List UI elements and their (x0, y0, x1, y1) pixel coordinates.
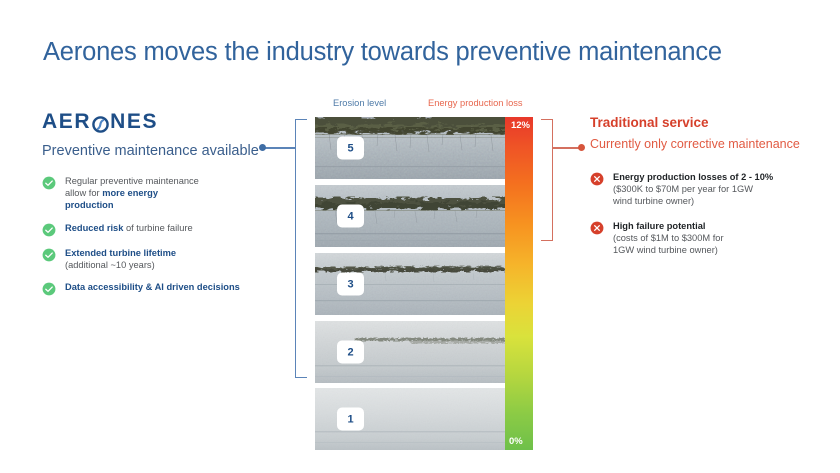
benefit-item: Reduced risk of turbine failure (42, 222, 267, 237)
risk-sub2: wind turbine owner) (613, 196, 694, 206)
erosion-level-badge: 5 (337, 137, 364, 160)
check-circle-icon (42, 282, 56, 296)
benefits-list: Regular preventive maintenanceallow for … (42, 175, 267, 296)
scale-max-label: 12% (511, 120, 530, 131)
benefit-plain: of turbine failure (123, 223, 192, 233)
risk-sub1: ($300K to $70M per year for 1GW (613, 184, 753, 194)
right-panel: Traditional service Currently only corre… (590, 115, 820, 268)
right-title: Traditional service (590, 115, 820, 130)
erosion-level-badge: 3 (337, 273, 364, 296)
risk-sub1: (costs of $1M to $300M for (613, 233, 724, 243)
benefit-line2-bold: more energy (102, 188, 158, 198)
logo-text-after: NES (110, 110, 158, 134)
left-bracket-stem (263, 147, 296, 149)
left-bracket (295, 119, 307, 378)
risk-headline: Energy production losses of 2 - 10% (613, 172, 773, 182)
right-bracket (541, 119, 553, 241)
aerones-logo: AER NES (42, 110, 267, 134)
erosion-level-badge: 4 (337, 205, 364, 228)
page-title: Aerones moves the industry towards preve… (43, 38, 722, 67)
risk-item: Energy production losses of 2 - 10%($300… (590, 171, 820, 208)
logo-text-before: AER (42, 110, 91, 134)
benefit-line1: Regular preventive maintenance (65, 176, 199, 186)
risk-text: High failure potential(costs of $1M to $… (613, 220, 724, 257)
check-circle-icon (42, 176, 56, 190)
benefit-text: Regular preventive maintenanceallow for … (65, 175, 199, 212)
check-circle-icon (42, 248, 56, 262)
benefit-bold: Reduced risk (65, 223, 123, 233)
left-subtitle: Preventive maintenance available (42, 143, 267, 159)
erosion-level-badge: 1 (337, 408, 364, 431)
x-circle-icon (590, 172, 604, 186)
aerones-o-mark-icon (92, 115, 109, 132)
right-bracket-dot-icon (578, 144, 585, 151)
check-circle-icon (42, 223, 56, 237)
erosion-level-badge: 2 (337, 341, 364, 364)
benefit-bold: Extended turbine lifetime (65, 248, 176, 258)
left-panel: AER NES Preventive maintenance available… (42, 110, 267, 306)
benefit-item: Regular preventive maintenanceallow for … (42, 175, 267, 212)
erosion-strips: 5 (315, 117, 505, 450)
risk-item: High failure potential(costs of $1M to $… (590, 220, 820, 257)
benefit-plain: (additional ~10 years) (65, 260, 155, 270)
benefit-line2-plain: allow for (65, 188, 102, 198)
energy-loss-gradient-scale: 12% 0% (505, 117, 533, 450)
energy-production-loss-header: Energy production loss (428, 98, 523, 108)
benefit-text: Reduced risk of turbine failure (65, 222, 193, 234)
risk-headline: High failure potential (613, 221, 705, 231)
benefit-bold: Data accessibility & AI driven decisions (65, 282, 240, 292)
erosion-strip-3[interactable]: 3 (315, 253, 505, 315)
erosion-level-header: Erosion level (333, 98, 386, 108)
risk-text: Energy production losses of 2 - 10%($300… (613, 171, 773, 208)
benefit-item: Extended turbine lifetime(additional ~10… (42, 247, 267, 271)
left-bracket-dot-icon (259, 144, 266, 151)
benefit-text: Data accessibility & AI driven decisions (65, 281, 240, 293)
right-subtitle: Currently only corrective maintenance (590, 137, 820, 151)
erosion-strip-4[interactable]: 4 (315, 185, 505, 247)
benefit-text: Extended turbine lifetime(additional ~10… (65, 247, 176, 271)
erosion-strip-5[interactable]: 5 (315, 117, 505, 179)
erosion-strip-2[interactable]: 2 (315, 321, 505, 383)
benefit-item: Data accessibility & AI driven decisions (42, 281, 267, 296)
scale-min-label: 0% (509, 436, 523, 447)
risk-sub2: 1GW wind turbine owner) (613, 245, 718, 255)
benefit-line3-bold: production (65, 200, 114, 210)
x-circle-icon (590, 221, 604, 235)
erosion-strip-1[interactable]: 1 (315, 388, 505, 450)
risks-list: Energy production losses of 2 - 10%($300… (590, 171, 820, 256)
center-headers: Erosion level Energy production loss (315, 98, 530, 112)
